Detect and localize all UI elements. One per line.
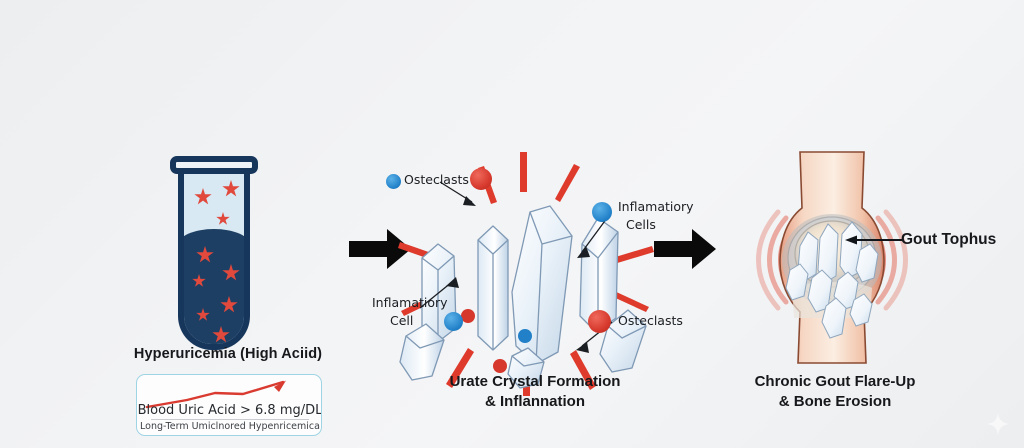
label-inflammatory-cells-line1: Inflamatiory (618, 200, 694, 215)
label-osteoclasts-top: Osteclasts (404, 173, 469, 188)
uric-acid-value: Blood Uric Acid > 6.8 mg/DL (137, 403, 322, 418)
label-inflammatory-cell-line1: Inflamatiory (372, 296, 448, 311)
stage-chronic-gout-flare (742, 150, 922, 365)
sparkle-watermark-icon (986, 412, 1010, 436)
test-tube-rim (170, 156, 258, 174)
urate-crystal-mark (216, 212, 230, 226)
label-inflammatory-cell-line2: Cell (390, 314, 413, 329)
test-tube-icon (118, 150, 338, 360)
marker-dot-blue-inflammatory-cell (444, 312, 463, 331)
marker-dot-red-osteoclasts-bottom (588, 310, 611, 333)
urate-crystal-mark (222, 180, 240, 198)
stage3-caption-line2: & Bone Erosion (700, 392, 970, 412)
uric-acid-subtext: Long-Term Umiclnored Hypenricemica (137, 421, 322, 432)
test-tube-body (178, 168, 250, 350)
gout-tophus-label: Gout Tophus (901, 231, 996, 249)
arrow-stage2-to-stage3-icon (652, 226, 718, 272)
label-osteoclasts-bottom: Osteclasts (618, 314, 683, 329)
uric-acid-metric-card: Blood Uric Acid > 6.8 mg/DL Long-Term Um… (136, 374, 322, 436)
stage3-caption-line1: Chronic Gout Flare-Up (700, 372, 970, 392)
marker-dot-blue-inflammatory-cells (592, 202, 612, 222)
test-tube-liquid (182, 236, 246, 346)
marker-dot-blue-osteoclasts-top (386, 174, 401, 189)
marker-dot-red-top (470, 168, 492, 190)
inflamed-joint-icon (742, 150, 922, 365)
stage-urate-crystal-formation: Osteclasts Inflamatiory Cells Inflamatio… (360, 140, 690, 400)
stage2-caption: Urate Crystal Formation & Inflannation (385, 372, 685, 413)
stage1-caption: Hyperuricemia (High Aciid) (118, 346, 338, 362)
stage2-caption-line2: & Inflannation (385, 392, 685, 412)
stage2-caption-line1: Urate Crystal Formation (385, 372, 685, 392)
stage-hyperuricemia: Hyperuricemia (High Aciid) Blood Uric Ac… (118, 150, 338, 448)
stage3-caption: Chronic Gout Flare-Up & Bone Erosion (700, 372, 970, 413)
gout-tophus-pointer-icon (845, 234, 903, 246)
metric-divider (151, 419, 309, 420)
urate-crystal-mark (194, 188, 212, 206)
